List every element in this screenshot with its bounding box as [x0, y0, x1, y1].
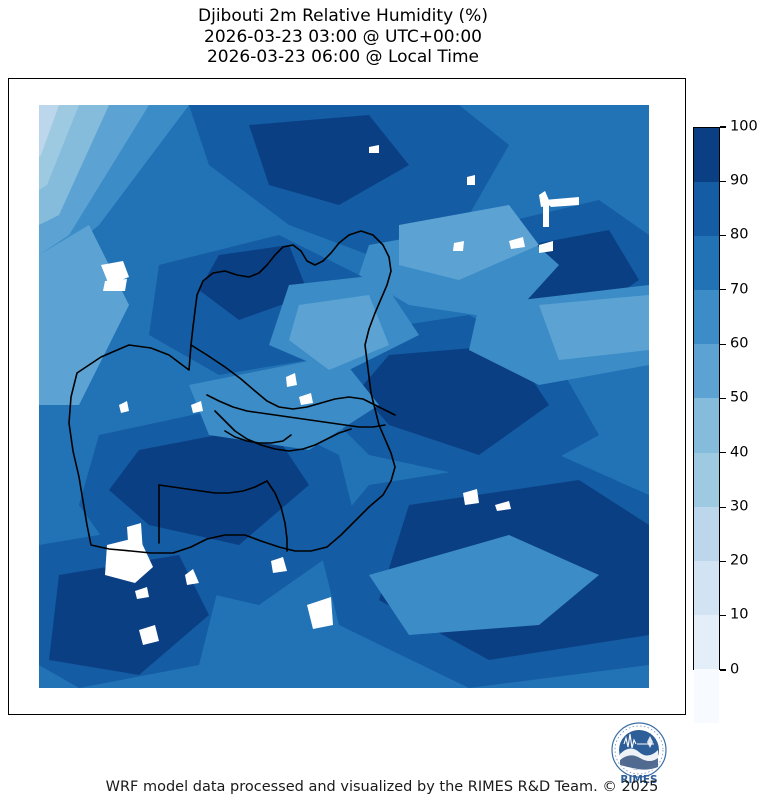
tick-mark — [720, 398, 726, 399]
colorbar-band-30 — [694, 507, 719, 561]
title-line-local-time: 2026-03-23 06:00 @ Local Time — [0, 47, 686, 68]
rimes-logo-graphic: RIMES — [606, 720, 672, 788]
colorbar-tick-label: 40 — [730, 445, 748, 460]
tick-mark — [720, 669, 726, 670]
tick-mark — [720, 181, 726, 182]
tick-mark — [720, 452, 726, 453]
colorbar-band-50 — [694, 398, 719, 452]
colorbar-band-10 — [694, 615, 719, 669]
colorbar-tick-label: 30 — [730, 499, 748, 514]
colorbar-tick-label: 80 — [730, 228, 748, 243]
colorbar-tick-label: 100 — [730, 119, 758, 134]
colorbar-band-40 — [694, 453, 719, 507]
tick-mark — [720, 235, 726, 236]
colorbar-band-100 — [694, 128, 719, 182]
tick-mark — [720, 289, 726, 290]
colorbar-band-60 — [694, 344, 719, 398]
colorbar-band-0 — [694, 669, 719, 723]
figure-canvas: Djibouti 2m Relative Humidity (%) 2026-0… — [0, 0, 764, 808]
tick-mark — [720, 126, 726, 127]
colorbar-tick-label: 0 — [730, 662, 739, 677]
title-line-variable: Djibouti 2m Relative Humidity (%) — [0, 6, 686, 27]
colorbar-tick-group: 100 90 80 70 60 50 40 30 — [720, 127, 764, 670]
tick-mark — [720, 344, 726, 345]
colorbar-tick-label: 20 — [730, 554, 748, 569]
colorbar-tick-label: 50 — [730, 391, 748, 406]
contour-band-60-70-eastpale — [539, 295, 649, 360]
tick-mark — [720, 507, 726, 508]
colorbar-band-90 — [694, 182, 719, 236]
page-title: Djibouti 2m Relative Humidity (%) 2026-0… — [0, 6, 686, 68]
colorbar-tick-label: 60 — [730, 336, 748, 351]
footer-credit: WRF model data processed and visualized … — [0, 779, 764, 795]
rimes-logo: RIMES — [606, 720, 672, 788]
title-line-utc-time: 2026-03-23 03:00 @ UTC+00:00 — [0, 27, 686, 48]
colorbar-tick-label: 90 — [730, 174, 748, 189]
colorbar-band-20 — [694, 561, 719, 615]
map-axes-frame: RIMES — [8, 78, 686, 715]
humidity-map — [39, 105, 649, 688]
colorbar-band-70 — [694, 290, 719, 344]
colorbar-band-80 — [694, 236, 719, 290]
colorbar-tick-label: 70 — [730, 282, 748, 297]
tick-mark — [720, 615, 726, 616]
tick-mark — [720, 561, 726, 562]
colorbar-tick-label: 10 — [730, 608, 748, 623]
humidity-contour-plot — [39, 105, 649, 688]
colorbar[interactable] — [693, 127, 720, 670]
